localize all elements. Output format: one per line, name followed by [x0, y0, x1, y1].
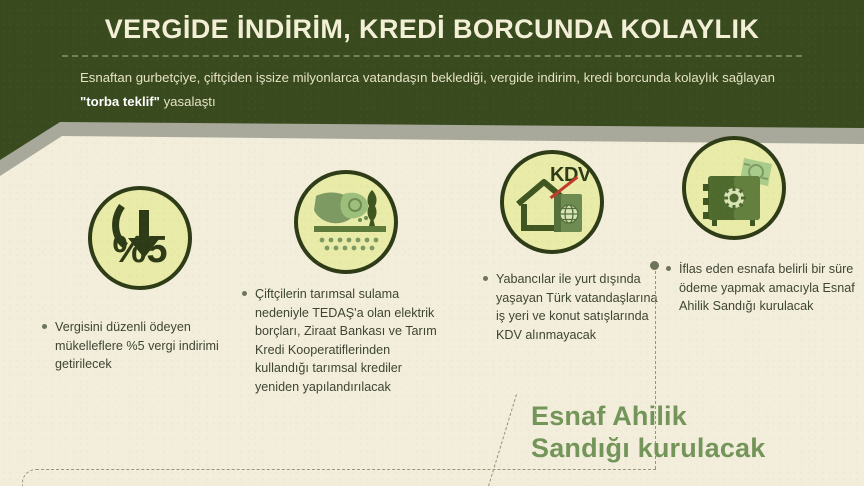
title-divider	[62, 55, 802, 57]
bullet-dot	[666, 266, 671, 271]
percent-icon-label: %5	[92, 190, 188, 286]
house-passport-no-kdv-icon: KDV	[500, 150, 604, 254]
bottom-headline: Esnaf Ahilik Sandığı kurulacak	[531, 400, 861, 464]
safe-vault-money-glyph	[686, 140, 786, 240]
subtitle-text-part2: yasalaştı	[160, 94, 216, 109]
diagonal-dashed-divider	[488, 394, 517, 486]
header-subtitle: Esnaftan gurbetçiye, çiftçiden işsize mi…	[80, 66, 810, 114]
horizontal-dashed-connector	[46, 469, 656, 470]
safe-vault-money-icon	[682, 136, 786, 240]
subtitle-emphasis: "torba teklif"	[80, 94, 160, 109]
info-column-1-text: Vergisini düzenli ödeyen mükelleflere %5…	[42, 318, 237, 374]
bottom-headline-line1: Esnaf Ahilik	[531, 400, 861, 432]
subtitle-text-part1: Esnaftan gurbetçiye, çiftçiden işsize mi…	[80, 70, 775, 85]
farm-field-money-icon	[294, 170, 398, 274]
connector-dot	[650, 261, 659, 270]
info-column-3-body: Yabancılar ile yurt dışında yaşayan Türk…	[483, 270, 658, 344]
info-column-2-text: Çiftçilerin tarımsal sulama nedeniyle TE…	[242, 285, 442, 397]
info-column-4-body: İflas eden esnafa belirli bir süre ödeme…	[666, 260, 856, 316]
percent-down-arrow-icon: %5	[88, 186, 192, 290]
page-title: VERGİDE İNDİRİM, KREDİ BORCUNDA KOLAYLIK	[0, 12, 864, 46]
bullet-dot	[242, 291, 247, 296]
info-column-3-text: Yabancılar ile yurt dışında yaşayan Türk…	[483, 270, 658, 344]
info-column-1-body: Vergisini düzenli ödeyen mükelleflere %5…	[42, 318, 237, 374]
bottom-headline-line2: Sandığı kurulacak	[531, 432, 861, 464]
info-column-4-text: İflas eden esnafa belirli bir süre ödeme…	[666, 260, 856, 316]
dashed-connector-corner	[22, 469, 52, 486]
bullet-dot	[42, 324, 47, 329]
farm-field-money-glyph	[298, 174, 398, 274]
info-column-2-body: Çiftçilerin tarımsal sulama nedeniyle TE…	[242, 285, 442, 397]
bullet-dot	[483, 276, 488, 281]
